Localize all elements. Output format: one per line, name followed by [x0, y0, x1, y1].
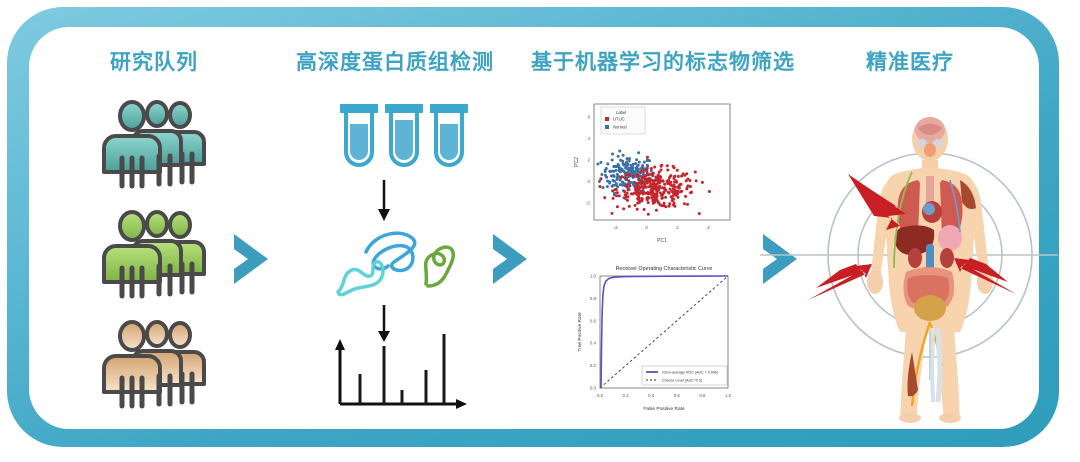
- scatter-point: [643, 208, 646, 211]
- scatter-point: [628, 205, 631, 208]
- scatter-xtick: -2: [614, 225, 619, 230]
- roc-ytick: 0.4: [590, 341, 597, 346]
- scatter-point: [647, 213, 650, 216]
- scatter-point: [657, 177, 660, 180]
- scatter-point: [669, 174, 672, 177]
- scatter-point: [660, 169, 663, 172]
- scatter-point: [632, 175, 635, 178]
- scatter-point: [628, 160, 631, 163]
- scatter-point: [647, 201, 650, 204]
- scatter-point: [616, 205, 619, 208]
- scatter-point: [701, 181, 704, 184]
- scatter-point: [599, 178, 602, 181]
- scatter-point: [606, 185, 609, 188]
- scatter-point: [689, 185, 692, 188]
- scatter-point: [622, 154, 625, 157]
- scatter-point: [618, 150, 621, 153]
- scatter-ytick: 0: [587, 179, 590, 184]
- scatter-point: [611, 212, 614, 215]
- scatter-point: [617, 155, 620, 158]
- scatter-point: [625, 184, 628, 187]
- scatter-legend-label-normal: Normal: [613, 125, 627, 130]
- scatter-point: [672, 198, 675, 201]
- scatter-point: [660, 197, 663, 200]
- roc-xtick: 1.0: [725, 393, 732, 398]
- scatter-point: [626, 164, 629, 167]
- scatter-point: [667, 191, 670, 194]
- heading-step-3: 基于机器学习的标志物筛选: [531, 48, 795, 78]
- heading-step-2: 高深度蛋白质组检测: [296, 48, 494, 78]
- scatter-point: [661, 179, 664, 182]
- scatter-xlabel: PC1: [657, 238, 667, 244]
- roc-xtick: 0.6: [674, 393, 681, 398]
- roc-title: Receiver Operating Characteristic Curve: [616, 266, 713, 272]
- scatter-point: [648, 178, 651, 181]
- scatter-point: [615, 194, 618, 197]
- scatter-point: [629, 171, 632, 174]
- scatter-point: [653, 166, 656, 169]
- scatter-point: [673, 205, 676, 208]
- scatter-point: [599, 161, 602, 164]
- scatter-point: [708, 190, 711, 193]
- scatter-point: [666, 180, 669, 183]
- scatter-point: [651, 187, 654, 190]
- scatter-point: [598, 185, 601, 188]
- scatter-point: [634, 182, 637, 185]
- scatter-point: [668, 205, 671, 208]
- scatter-point: [663, 183, 666, 186]
- scatter-point: [612, 197, 615, 200]
- scatter-point: [614, 188, 617, 191]
- down-arrow-icon-1: [375, 180, 393, 222]
- scatter-point: [611, 153, 614, 156]
- scatter-point: [625, 173, 628, 176]
- scatter-point: [636, 173, 639, 176]
- scatter-point: [657, 174, 660, 177]
- scatter-point: [627, 195, 630, 198]
- scatter-point: [643, 191, 646, 194]
- scatter-point: [648, 180, 651, 183]
- scatter-point: [695, 179, 698, 182]
- roc-legend-label-micro: micro-average ROC (AUC = 0.996): [662, 371, 718, 375]
- roc-xtick: 0.8: [699, 393, 706, 398]
- roc-ytick: 0.6: [590, 318, 597, 323]
- scatter-point: [627, 189, 630, 192]
- scatter-point: [625, 177, 628, 180]
- roc-ylabel: True Positive Rate: [577, 312, 583, 352]
- scatter-point: [672, 191, 675, 194]
- pca-scatter-plot: Label UTUC Normal -2024 -20246 PC1 PC2: [568, 96, 744, 252]
- scatter-point: [611, 189, 614, 192]
- scatter-point: [624, 197, 627, 200]
- scatter-point: [677, 186, 680, 189]
- protein-structure-icon: [330, 218, 480, 306]
- scatter-point: [676, 169, 679, 172]
- scatter-point: [635, 168, 638, 171]
- roc-xtick: 0.2: [623, 393, 630, 398]
- scatter-point: [624, 193, 627, 196]
- scatter-point: [643, 161, 646, 164]
- scatter-point: [686, 203, 689, 206]
- scatter-ytick: -2: [586, 200, 591, 205]
- scatter-legend-title: Label: [616, 110, 626, 115]
- scatter-point: [655, 194, 658, 197]
- scatter-point: [634, 162, 637, 165]
- scatter-point: [604, 174, 607, 177]
- scatter-point: [664, 189, 667, 192]
- scatter-point: [673, 180, 676, 183]
- scatter-point: [637, 151, 640, 154]
- scatter-legend-label-utuc: UTUC: [613, 117, 625, 122]
- cohort-group-green-icon: [104, 208, 224, 298]
- scatter-point: [661, 186, 664, 189]
- roc-xtick: 0.0: [597, 393, 604, 398]
- roc-ytick: 0.2: [590, 363, 597, 368]
- scatter-point: [631, 165, 634, 168]
- scatter-point: [646, 167, 649, 170]
- roc-ytick: 0.8: [590, 296, 597, 301]
- scatter-point: [641, 198, 644, 201]
- scatter-point: [657, 201, 660, 204]
- scatter-point: [661, 193, 664, 196]
- scatter-point: [637, 164, 640, 167]
- scatter-ytick: 2: [587, 157, 590, 162]
- scatter-point: [686, 186, 689, 189]
- roc-ytick: 0.0: [590, 386, 597, 391]
- scatter-point: [655, 183, 658, 186]
- scatter-point: [606, 162, 609, 165]
- scatter-point: [673, 186, 676, 189]
- scatter-point: [646, 198, 649, 201]
- scatter-xtick: 0: [645, 225, 648, 230]
- scatter-point: [600, 173, 603, 176]
- scatter-point: [664, 196, 667, 199]
- scatter-point: [690, 191, 693, 194]
- scatter-point: [637, 198, 640, 201]
- scatter-point: [655, 209, 658, 212]
- scatter-point: [650, 167, 653, 170]
- scatter-point: [627, 179, 630, 182]
- scatter-point: [638, 201, 641, 204]
- scatter-point: [618, 194, 621, 197]
- scatter-point: [652, 172, 655, 175]
- scatter-point: [623, 190, 626, 193]
- roc-xtick: 0.4: [648, 393, 655, 398]
- scatter-point: [663, 204, 666, 207]
- chevron-arrow-icon-3: [757, 231, 803, 287]
- scatter-point: [602, 186, 605, 189]
- roc-legend-label-chance: Chance Level (AUC=0.5): [662, 379, 702, 383]
- scatter-point: [629, 184, 632, 187]
- scatter-point: [628, 173, 631, 176]
- scatter-point: [611, 159, 614, 162]
- scatter-point: [626, 157, 629, 160]
- scatter-point: [604, 169, 607, 172]
- scatter-point: [659, 181, 662, 184]
- scatter-point: [596, 163, 599, 166]
- scatter-point: [641, 186, 644, 189]
- scatter-point: [652, 182, 655, 185]
- chevron-arrow-icon-2: [487, 231, 533, 287]
- scatter-point: [637, 182, 640, 185]
- scatter-ylabel: PC2: [574, 157, 580, 167]
- scatter-ytick: 4: [587, 136, 590, 141]
- scatter-point: [684, 195, 687, 198]
- cohort-group-teal-icon: [104, 98, 224, 188]
- scatter-point: [636, 189, 639, 192]
- scatter-xtick: 4: [707, 225, 710, 230]
- scatter-point: [609, 170, 612, 173]
- scatter-point: [642, 169, 645, 172]
- scatter-point: [612, 184, 615, 187]
- scatter-xtick: 2: [676, 225, 679, 230]
- chevron-arrow-icon-1: [228, 231, 274, 287]
- scatter-point: [634, 186, 637, 189]
- scatter-point: [637, 177, 640, 180]
- scatter-point: [649, 192, 652, 195]
- scatter-point: [634, 204, 637, 207]
- scatter-point: [673, 175, 676, 178]
- scatter-ytick: 6: [587, 114, 590, 119]
- mass-spectrum-icon: [330, 336, 470, 416]
- scatter-point: [640, 191, 643, 194]
- infographic-root: 研究队列 高深度蛋白质组检测 基于机器学习的标志物筛选 精准医疗: [0, 0, 1080, 462]
- scatter-point: [635, 158, 638, 161]
- cohort-group-tan-icon: [104, 318, 224, 408]
- scatter-point: [666, 164, 669, 167]
- scatter-point: [673, 166, 676, 169]
- scatter-point: [619, 159, 622, 162]
- scatter-point: [680, 175, 683, 178]
- test-tubes-icon: [334, 100, 474, 180]
- scatter-point: [652, 199, 655, 202]
- scatter-point: [675, 194, 678, 197]
- scatter-point: [638, 161, 641, 164]
- scatter-point: [694, 171, 697, 174]
- scatter-point: [619, 167, 622, 170]
- scatter-point: [648, 185, 651, 188]
- scatter-point: [669, 188, 672, 191]
- scatter-point: [679, 190, 682, 193]
- scatter-point: [660, 164, 663, 167]
- scatter-point: [633, 192, 636, 195]
- scatter-point: [636, 208, 639, 211]
- roc-ytick: 1.0: [590, 274, 597, 279]
- scatter-point: [621, 175, 624, 178]
- scatter-point: [677, 175, 680, 178]
- scatter-point: [698, 212, 701, 215]
- heading-step-1: 研究队列: [110, 48, 198, 78]
- precision-medicine-body-illustration: [800, 92, 1060, 422]
- scatter-point: [666, 169, 669, 172]
- scatter-point: [640, 180, 643, 183]
- scatter-point: [646, 159, 649, 162]
- scatter-point: [642, 175, 645, 178]
- scatter-point: [616, 191, 619, 194]
- scatter-point: [616, 176, 619, 179]
- scatter-point: [639, 170, 642, 173]
- scatter-point: [622, 207, 625, 210]
- roc-curve-plot: Receiver Operating Characteristic Curve …: [568, 256, 744, 420]
- scatter-point: [685, 179, 688, 182]
- scatter-point: [680, 183, 683, 186]
- scatter-point: [603, 196, 606, 199]
- roc-xlabel: False Positive Rate: [643, 406, 685, 412]
- scatter-point: [615, 184, 618, 187]
- scatter-point: [659, 203, 662, 206]
- scatter-point: [615, 169, 618, 172]
- scatter-point: [689, 179, 692, 182]
- scatter-point: [683, 202, 686, 205]
- scatter-point: [683, 174, 686, 177]
- scatter-point: [612, 179, 615, 182]
- scatter-point: [646, 164, 649, 167]
- scatter-point: [613, 175, 616, 178]
- scatter-point: [646, 156, 649, 159]
- scatter-point: [613, 165, 616, 168]
- scatter-point: [616, 173, 619, 176]
- scatter-point: [608, 182, 611, 185]
- heading-step-4: 精准医疗: [866, 48, 954, 78]
- scatter-point: [617, 163, 620, 166]
